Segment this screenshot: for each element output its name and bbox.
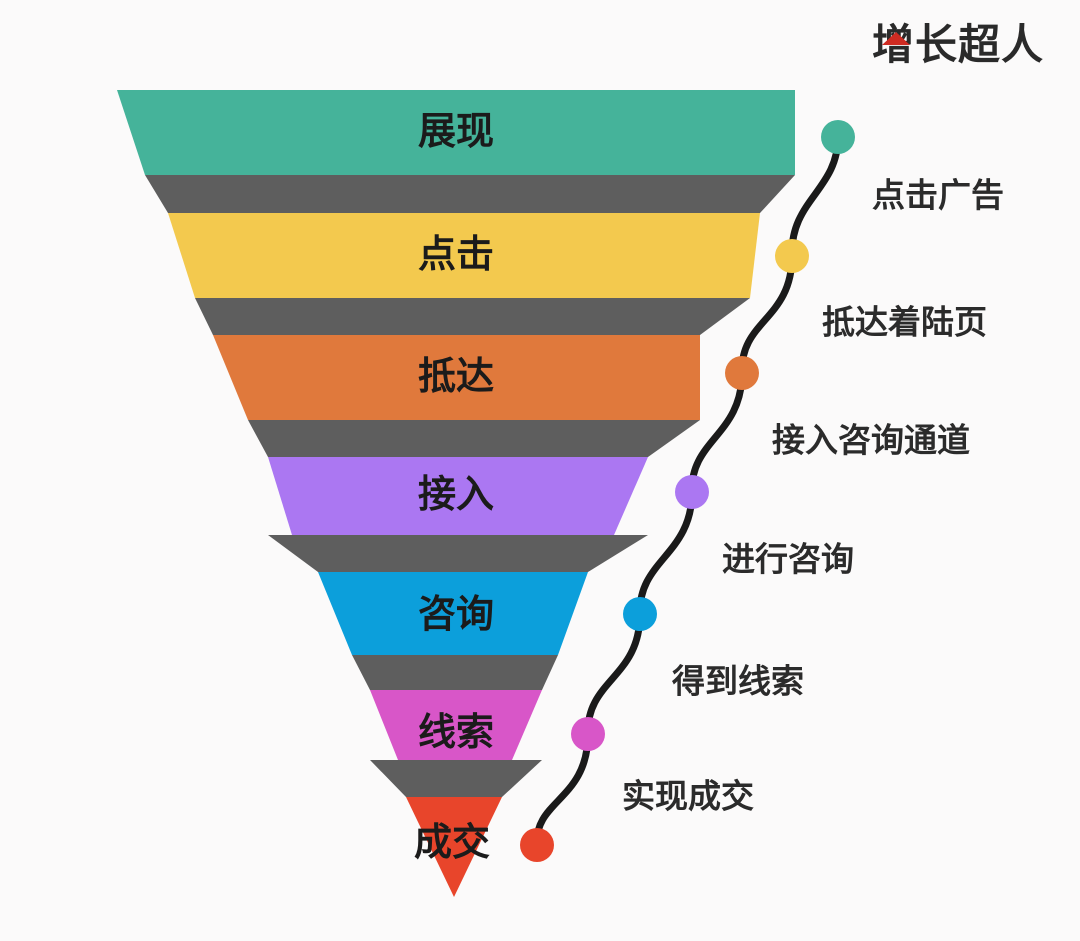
connector-band-4 — [268, 535, 648, 572]
transition-dot-2[interactable] — [775, 239, 809, 273]
transition-curve-1 — [792, 137, 838, 256]
connector-band-1 — [145, 175, 795, 213]
funnel-stage-label-5: 咨询 — [418, 594, 494, 636]
transition-label-2: 抵达着陆页 — [822, 304, 987, 341]
funnel-stage-label-4: 接入 — [418, 474, 494, 516]
connector-band-6 — [370, 760, 542, 797]
funnel-stage-label-2: 点击 — [418, 234, 494, 276]
transition-label-4: 进行咨询 — [722, 541, 854, 578]
funnel-chart: 展现 点击 抵达 接入 咨询 线索 — [0, 0, 1080, 941]
transition-curve-4 — [640, 492, 692, 614]
transition-label-5: 得到线索 — [671, 663, 804, 700]
brand-name: 增长超人 — [872, 24, 1044, 66]
connector-band-2 — [195, 298, 750, 335]
transition-dot-5[interactable] — [623, 597, 657, 631]
funnel-stage-3[interactable]: 抵达 — [213, 335, 700, 420]
funnel-stage-6[interactable]: 线索 — [370, 690, 542, 760]
transition-dot-4[interactable] — [675, 475, 709, 509]
funnel-stage-1[interactable]: 展现 — [117, 90, 795, 175]
transition-curve-6 — [537, 734, 588, 845]
transition-dot-6[interactable] — [571, 717, 605, 751]
funnel-stage-5[interactable]: 咨询 — [318, 572, 588, 655]
transition-curve-5 — [588, 614, 640, 734]
funnel-stage-label-3: 抵达 — [418, 356, 494, 398]
transition-dot-1[interactable] — [821, 120, 855, 154]
transition-dot-3[interactable] — [725, 356, 759, 390]
transition-label-1: 点击广告 — [872, 177, 1004, 214]
funnel-stage-7[interactable]: 成交 — [406, 797, 502, 897]
funnel-stage-label-7: 成交 — [414, 821, 490, 864]
funnel-stage-label-6: 线索 — [418, 712, 494, 754]
brand-logo: 增长超人 — [872, 18, 1044, 72]
funnel-stage-4[interactable]: 接入 — [268, 457, 648, 535]
transition-label-6: 实现成交 — [622, 778, 754, 815]
funnel-stage-2[interactable]: 点击 — [168, 213, 760, 298]
connector-band-5 — [352, 655, 558, 690]
connector-band-3 — [248, 420, 700, 457]
transition-dot-7[interactable] — [520, 828, 554, 862]
transition-label-3: 接入咨询通道 — [772, 422, 970, 459]
funnel-stage-label-1: 展现 — [418, 111, 494, 153]
funnel-diagram-canvas: 展现 点击 抵达 接入 咨询 线索 — [0, 0, 1080, 941]
